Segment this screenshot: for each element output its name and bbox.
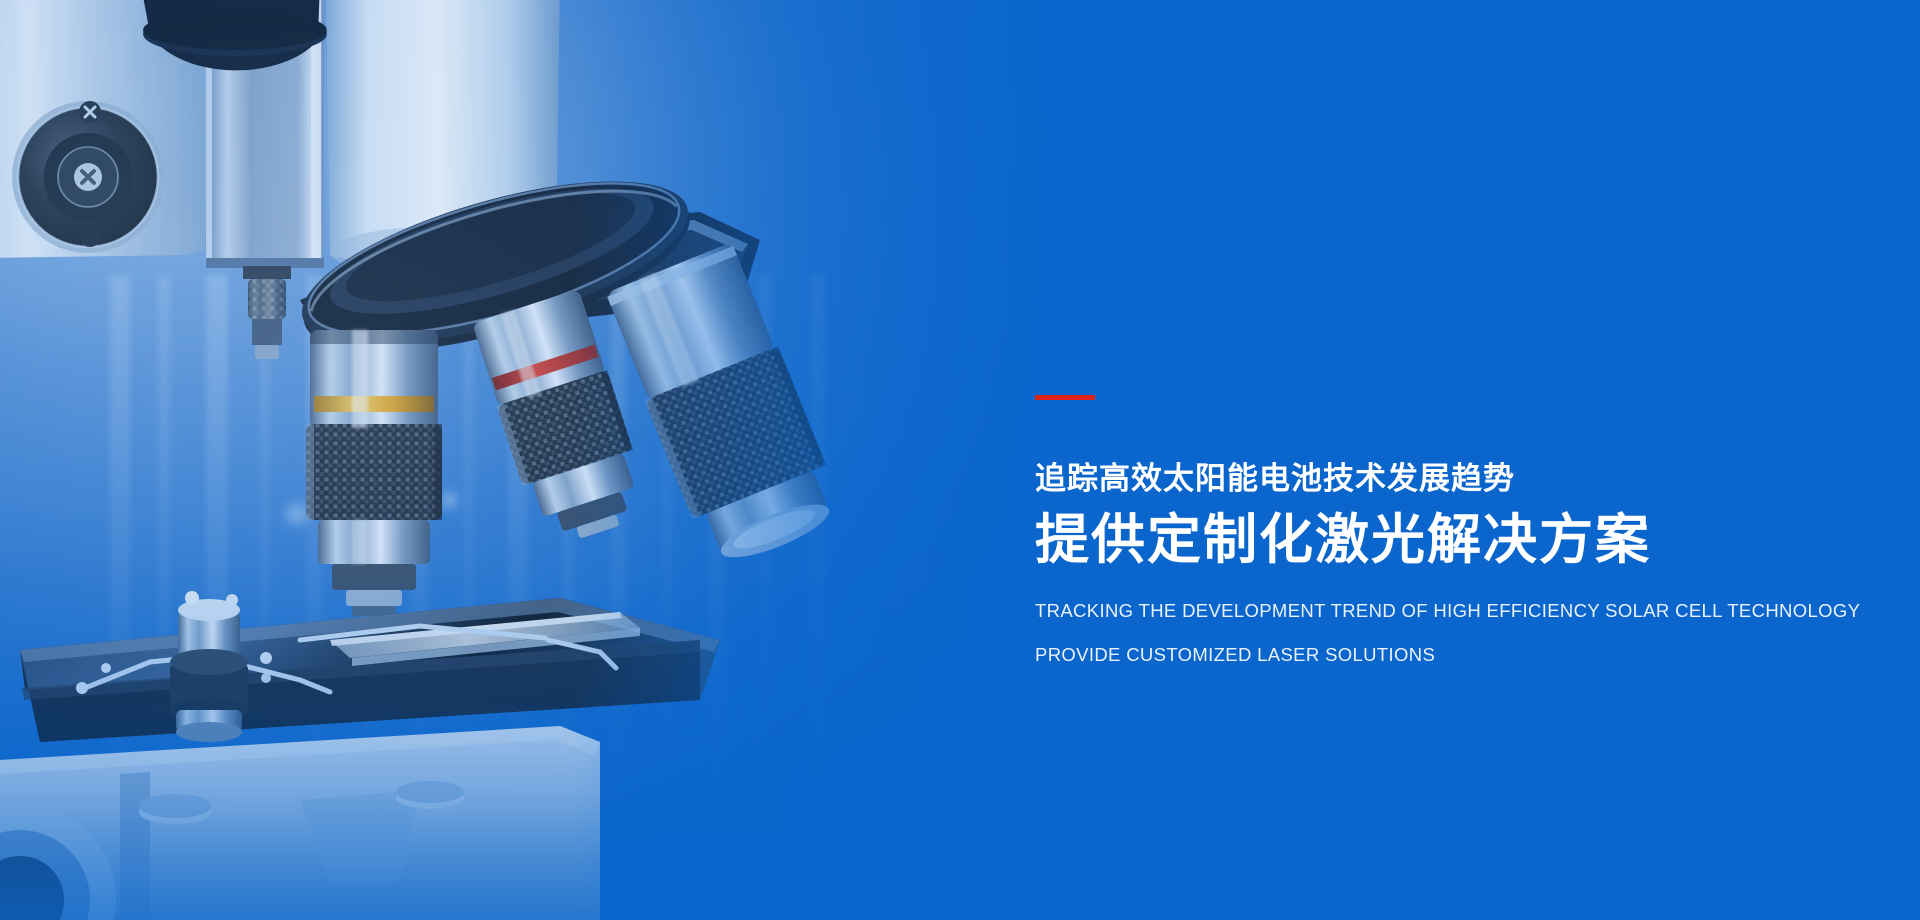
hero-banner: 追踪高效太阳能电池技术发展趋势 提供定制化激光解决方案 TRACKING THE… [0,0,1920,920]
banner-copy: 追踪高效太阳能电池技术发展趋势 提供定制化激光解决方案 TRACKING THE… [1035,395,1755,665]
banner-kicker: 追踪高效太阳能电池技术发展趋势 [1035,462,1755,496]
banner-headline: 提供定制化激光解决方案 [1035,510,1755,570]
banner-subtitle-line-1: TRACKING THE DEVELOPMENT TREND OF HIGH E… [1035,601,1755,621]
photo-bottom-fade [0,0,1100,920]
accent-rule [1035,395,1095,400]
microscope-photo [0,0,1100,920]
banner-subtitle-line-2: PROVIDE CUSTOMIZED LASER SOLUTIONS [1035,645,1755,665]
